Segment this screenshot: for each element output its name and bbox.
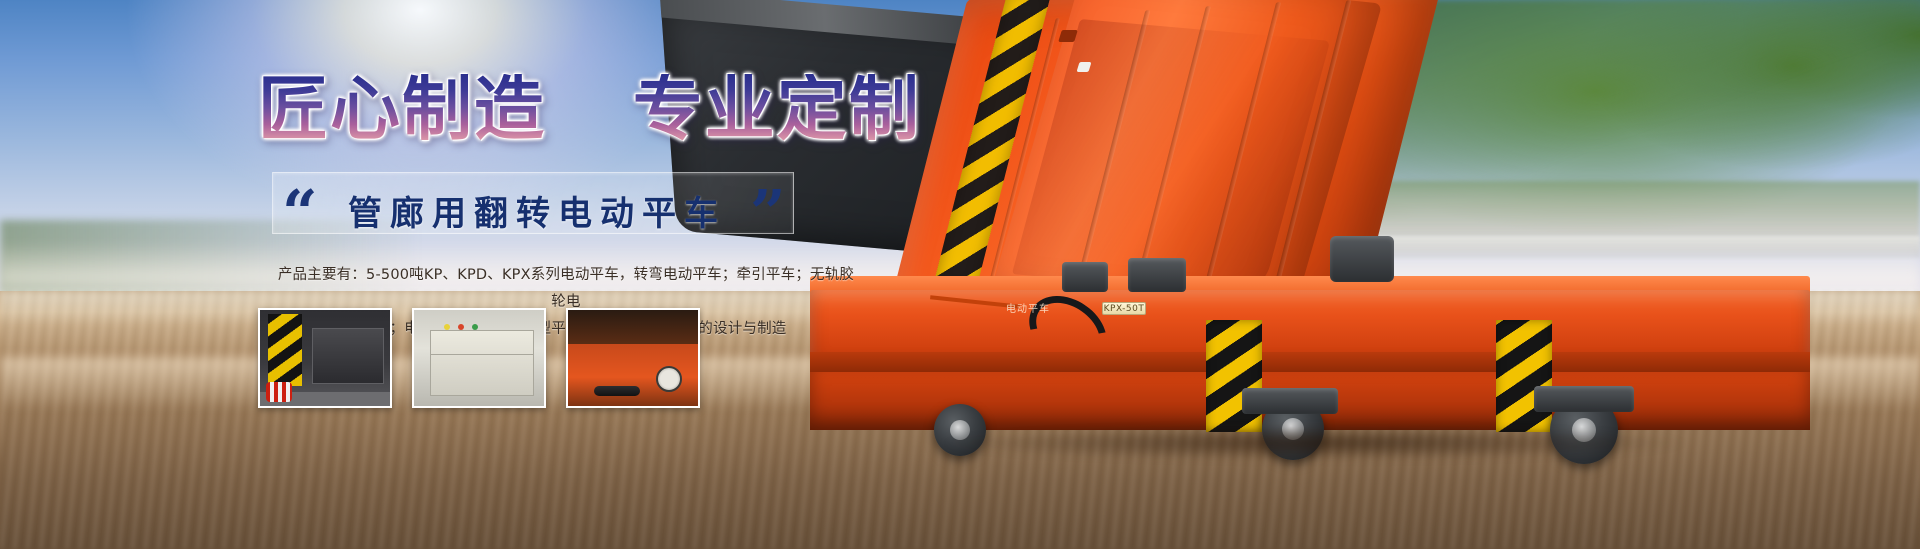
thumb-hazard-stripes: [268, 314, 302, 386]
cart-ground-shadow: [810, 420, 1820, 466]
banner-headline: 匠心制造 专业定制: [258, 74, 921, 144]
cart-deck-lower-band: [810, 352, 1810, 372]
thumbnail-machinery-closeup[interactable]: [566, 308, 700, 408]
machine-nameplate: KPX-50T: [1102, 302, 1146, 315]
thumb-cabinet-seam: [430, 354, 534, 355]
pivot-block: [1330, 236, 1394, 282]
thumb-dark-band: [568, 310, 698, 344]
winch-drum: [1062, 262, 1108, 292]
thumbnail-electric-flat-car-dark[interactable]: [258, 308, 392, 408]
orange-flip-rail-transfer-cart: 电动平车 KPX-50T: [810, 0, 1920, 549]
headline-part-2: 专业定制: [633, 68, 921, 150]
thumb-indicator-led: [458, 324, 464, 330]
thumb-cabinet-body: [430, 330, 534, 396]
thumb-machine-box: [312, 328, 384, 384]
thumbnail-gallery: [258, 308, 700, 408]
banner-subtitle: 管廊用翻转电动平车: [348, 186, 726, 235]
quote-open-icon: “: [282, 182, 318, 244]
axle-housing: [1242, 388, 1338, 414]
banner-text-block: 匠心制造 专业定制 “ 管廊用翻转电动平车 ” 产品主要有：5-500吨KP、K…: [0, 0, 900, 549]
promo-banner: 电动平车 KPX-50T 匠心制造 专业定制 “ 管廊用翻转电动平车 ” 产品主…: [0, 0, 1920, 549]
thumb-pipe: [594, 386, 640, 396]
headline-part-1: 匠心制造: [258, 68, 546, 150]
machine-decal: 电动平车: [1006, 300, 1050, 315]
thumb-red-bumper: [266, 382, 292, 402]
thumb-pressure-gauge: [656, 366, 682, 392]
quote-close-icon: ”: [750, 182, 786, 244]
deck-hazard-stripes-right: [1496, 320, 1552, 432]
deck-hazard-stripes-left: [1206, 320, 1262, 432]
winch-drum: [1128, 258, 1186, 292]
thumbnail-control-cabinet[interactable]: [412, 308, 546, 408]
thumb-indicator-led: [444, 324, 450, 330]
thumb-indicator-led: [472, 324, 478, 330]
axle-housing: [1534, 386, 1634, 412]
